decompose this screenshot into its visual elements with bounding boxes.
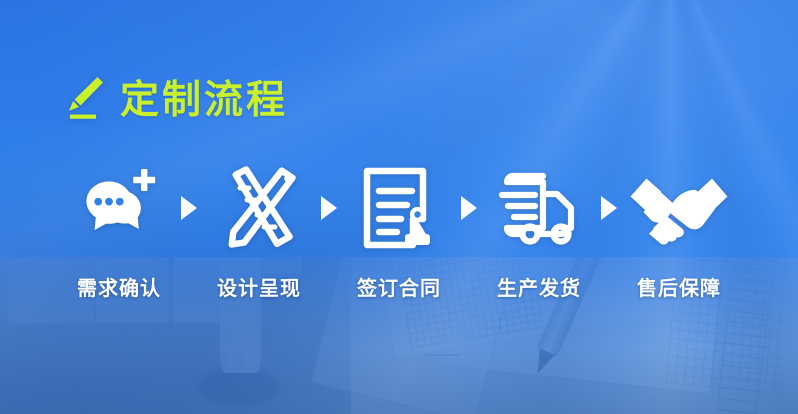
process-step-label: 签订合同 <box>357 272 441 301</box>
contract-stamp-icon <box>357 160 441 256</box>
process-step-2[interactable]: 设计呈现 <box>200 160 318 301</box>
handshake-icon <box>627 160 731 256</box>
banner-heading: 定制流程 <box>58 74 288 126</box>
triangle-right-arrow-icon <box>178 160 200 256</box>
process-step-4[interactable]: 生产发货 <box>480 160 598 301</box>
process-step-5[interactable]: 售后保障 <box>620 160 738 301</box>
triangle-right-arrow-icon <box>458 160 480 256</box>
process-step-label: 设计呈现 <box>217 272 301 301</box>
process-step-label: 需求确认 <box>77 272 161 301</box>
process-step-3[interactable]: 签订合同 <box>340 160 458 301</box>
triangle-right-arrow-icon <box>598 160 620 256</box>
chat-bubbles-plus-icon <box>71 160 167 256</box>
process-step-label: 售后保障 <box>637 272 721 301</box>
pencil-ruler-cross-icon <box>213 160 305 256</box>
page-title: 定制流程 <box>120 81 288 120</box>
delivery-truck-icon <box>493 160 585 256</box>
process-step-label: 生产发货 <box>497 272 581 301</box>
process-step-1[interactable]: 需求确认 <box>60 160 178 301</box>
pencil-underline-icon <box>58 74 106 126</box>
custom-process-banner: 定制流程 <box>0 0 798 414</box>
banner-content: 定制流程 <box>0 0 798 414</box>
process-steps: 需求确认 <box>0 160 798 301</box>
triangle-right-arrow-icon <box>318 160 340 256</box>
